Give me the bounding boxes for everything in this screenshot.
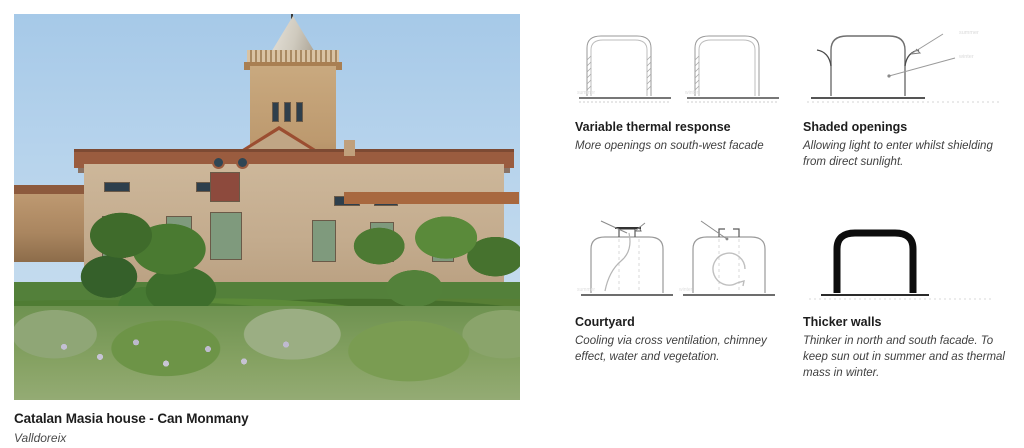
diagram-card-thicker-walls: Thicker walls Thinker in north and south… (803, 209, 1015, 381)
wildflowers (34, 330, 334, 386)
shaded-openings-svg: summer winter (803, 14, 1015, 114)
photo-block: Catalan Masia house - Can Monmany Valldo… (14, 14, 520, 446)
wing-roof (344, 192, 519, 204)
right-trees (344, 210, 520, 316)
chimney (344, 140, 355, 156)
shuttered-window (312, 220, 336, 262)
tower-window (272, 102, 279, 122)
tower-window (296, 102, 303, 122)
diagram-title: Variable thermal response (575, 120, 787, 136)
diagram-title: Courtyard (575, 315, 787, 331)
diagram-description: Thinker in north and south facade. To ke… (803, 333, 1015, 381)
photo-caption-subtitle: Valldoreix (14, 430, 520, 446)
micro-label-winter: winter (685, 90, 699, 96)
variable-thermal-response-svg: summer winter (575, 14, 787, 114)
micro-label-summer: summer (577, 287, 595, 293)
micro-label-winter: winter (958, 54, 974, 60)
diagram-card-variable-thermal-response: summer winter Variable thermal response … (575, 14, 787, 154)
courtyard-figure: summer (575, 209, 787, 309)
gable-oculus (212, 156, 225, 169)
diagram-description: More openings on south-west facade (575, 138, 787, 154)
diagram-title: Thicker walls (803, 315, 1015, 331)
facade-window (104, 182, 130, 192)
variable-thermal-response-figure: summer winter (575, 14, 787, 114)
micro-label-summer: summer (577, 90, 595, 96)
diagram-description: Cooling via cross ventilation, chimney e… (575, 333, 787, 365)
page-root: Catalan Masia house - Can Monmany Valldo… (0, 0, 1024, 448)
gable-oculus (236, 156, 249, 169)
diagram-title: Shaded openings (803, 120, 1015, 136)
diagram-card-shaded-openings: summer winter Shaded openings Allowing l… (803, 14, 1015, 170)
micro-label-winter: winter (679, 287, 693, 293)
courtyard-svg: summer (575, 209, 787, 309)
photo-caption-title: Catalan Masia house - Can Monmany (14, 410, 520, 428)
strategy-diagram-grid: summer winter Variable thermal response … (575, 14, 1015, 434)
tower-window (284, 102, 291, 122)
balcony-door (210, 172, 240, 202)
diagram-card-courtyard: summer (575, 209, 787, 365)
thicker-walls-figure (803, 209, 1015, 309)
shaded-openings-figure: summer winter (803, 14, 1015, 114)
diagram-description: Allowing light to enter whilst shielding… (803, 138, 1015, 170)
thicker-walls-svg (803, 209, 1015, 309)
masia-house-photo (14, 14, 520, 400)
micro-label-summer: summer (959, 30, 979, 36)
